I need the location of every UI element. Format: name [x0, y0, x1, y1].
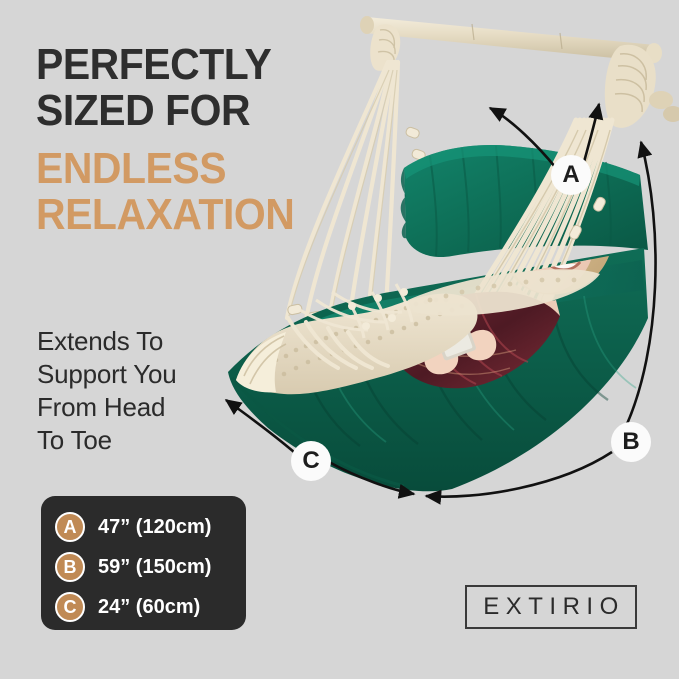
brand-name: EXTIRIO	[477, 593, 625, 621]
infographic-canvas: A B C PERFECTLY SIZED FOR ENDLESS RELAXA…	[0, 0, 679, 679]
headline-line-2: SIZED FOR	[36, 88, 287, 134]
subheadline-line-3: From Head	[37, 391, 257, 424]
legend-row: B 59” (150cm)	[55, 549, 246, 585]
legend-badge-c: C	[55, 592, 85, 622]
headline-line-1: PERFECTLY	[36, 42, 287, 88]
brand-logo: EXTIRIO	[465, 585, 637, 629]
callout-marker-b: B	[611, 422, 651, 462]
legend-measurement-c: 24” (60cm)	[98, 596, 200, 619]
subheadline-block: Extends To Support You From Head To Toe	[37, 325, 257, 457]
callout-marker-c: C	[291, 441, 331, 481]
callout-marker-a: A	[551, 155, 591, 195]
measurement-legend-card: A 47” (120cm) B 59” (150cm) C 24” (60cm)	[41, 496, 246, 630]
subheadline-line-4: To Toe	[37, 424, 257, 457]
legend-measurement-b: 59” (150cm)	[98, 556, 211, 579]
headline-block: PERFECTLY SIZED FOR ENDLESS RELAXATION	[36, 42, 306, 238]
headline-line-3: ENDLESS	[36, 146, 287, 192]
legend-badge-b: B	[55, 552, 85, 582]
legend-row: A 47” (120cm)	[55, 509, 246, 545]
headline-line-4: RELAXATION	[36, 192, 287, 238]
legend-measurement-a: 47” (120cm)	[98, 516, 211, 539]
legend-badge-a: A	[55, 512, 85, 542]
subheadline-line-1: Extends To	[37, 325, 257, 358]
legend-row: C 24” (60cm)	[55, 589, 246, 625]
subheadline-line-2: Support You	[37, 358, 257, 391]
